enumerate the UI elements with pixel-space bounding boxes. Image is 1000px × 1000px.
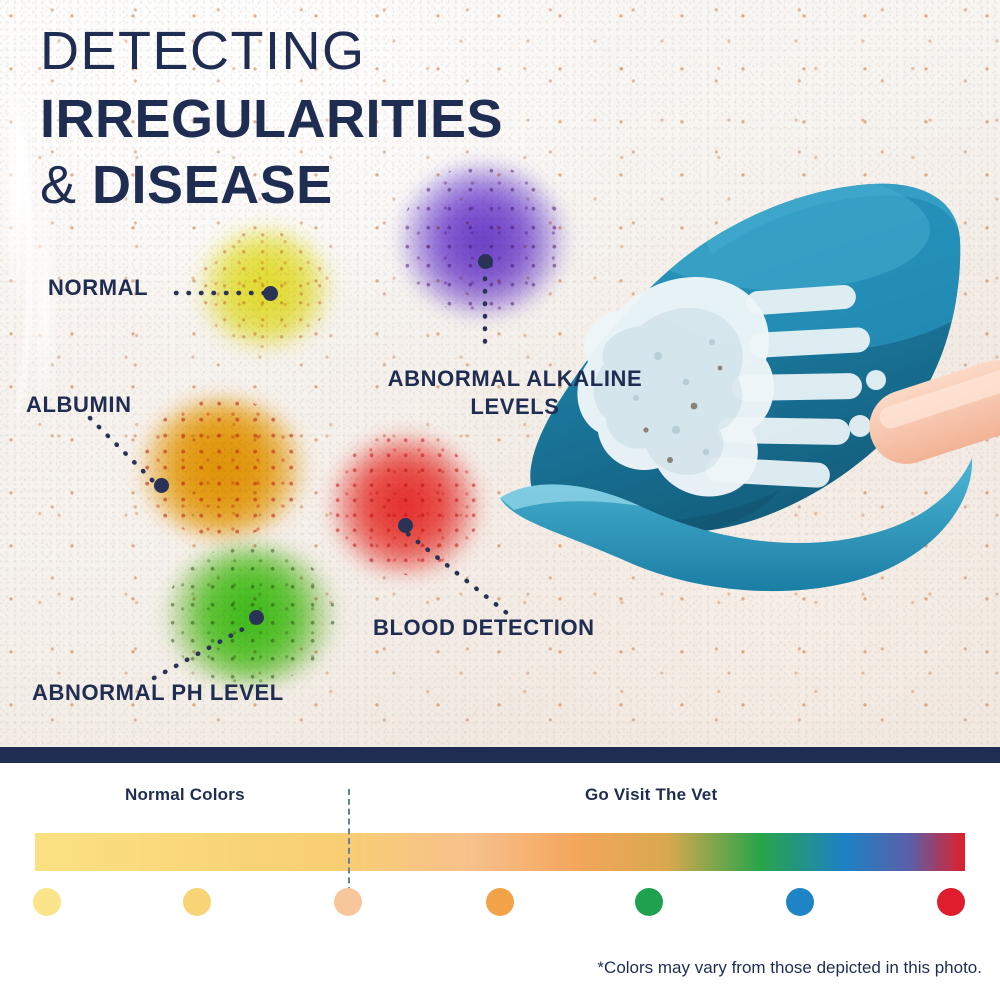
legend-footnote: *Colors may vary from those depicted in … <box>0 958 982 978</box>
leader-alkaline <box>478 266 494 356</box>
title-line-3-word: DISEASE <box>92 155 333 215</box>
photo-panel: DETECTING IRREGULARITIES & DISEASE NORMA… <box>0 0 1000 747</box>
swatch-peach <box>334 888 362 916</box>
section-divider <box>0 747 1000 763</box>
swatch-orange <box>486 888 514 916</box>
legend-normal-label: Normal Colors <box>125 785 245 805</box>
color-legend-panel: Normal Colors Go Visit The Vet *Colors m… <box>0 763 1000 1000</box>
marker-albumin <box>154 478 169 493</box>
swatch-pale-yellow <box>33 888 61 916</box>
swatch-blue <box>786 888 814 916</box>
swatch-green <box>635 888 663 916</box>
legend-vet-label: Go Visit The Vet <box>585 785 717 805</box>
marker-normal <box>263 286 278 301</box>
leader-blood <box>404 530 524 620</box>
label-normal: NORMAL <box>48 275 148 301</box>
normal-abnormal-threshold-marker <box>348 789 350 903</box>
color-gradient-bar <box>35 833 965 871</box>
swatch-yellow <box>183 888 211 916</box>
title-ampersand: & <box>40 155 77 215</box>
label-blood: BLOOD DETECTION <box>373 615 595 641</box>
title-line-1: DETECTING <box>40 24 503 78</box>
label-ph: ABNORMAL PH LEVEL <box>32 680 284 706</box>
label-alkaline: ABNORMAL ALKALINE LEVELS <box>365 365 665 420</box>
label-alkaline-line2: LEVELS <box>470 394 559 419</box>
label-alkaline-line1: ABNORMAL ALKALINE <box>388 366 643 391</box>
title-line-2: IRREGULARITIES <box>40 92 503 146</box>
title-line-3: & DISEASE <box>40 158 503 212</box>
infographic-page: DETECTING IRREGULARITIES & DISEASE NORMA… <box>0 0 1000 1000</box>
swatch-red <box>937 888 965 916</box>
leader-ph <box>150 620 260 682</box>
color-gradient-fill <box>35 833 965 871</box>
page-title: DETECTING IRREGULARITIES & DISEASE <box>40 24 503 212</box>
